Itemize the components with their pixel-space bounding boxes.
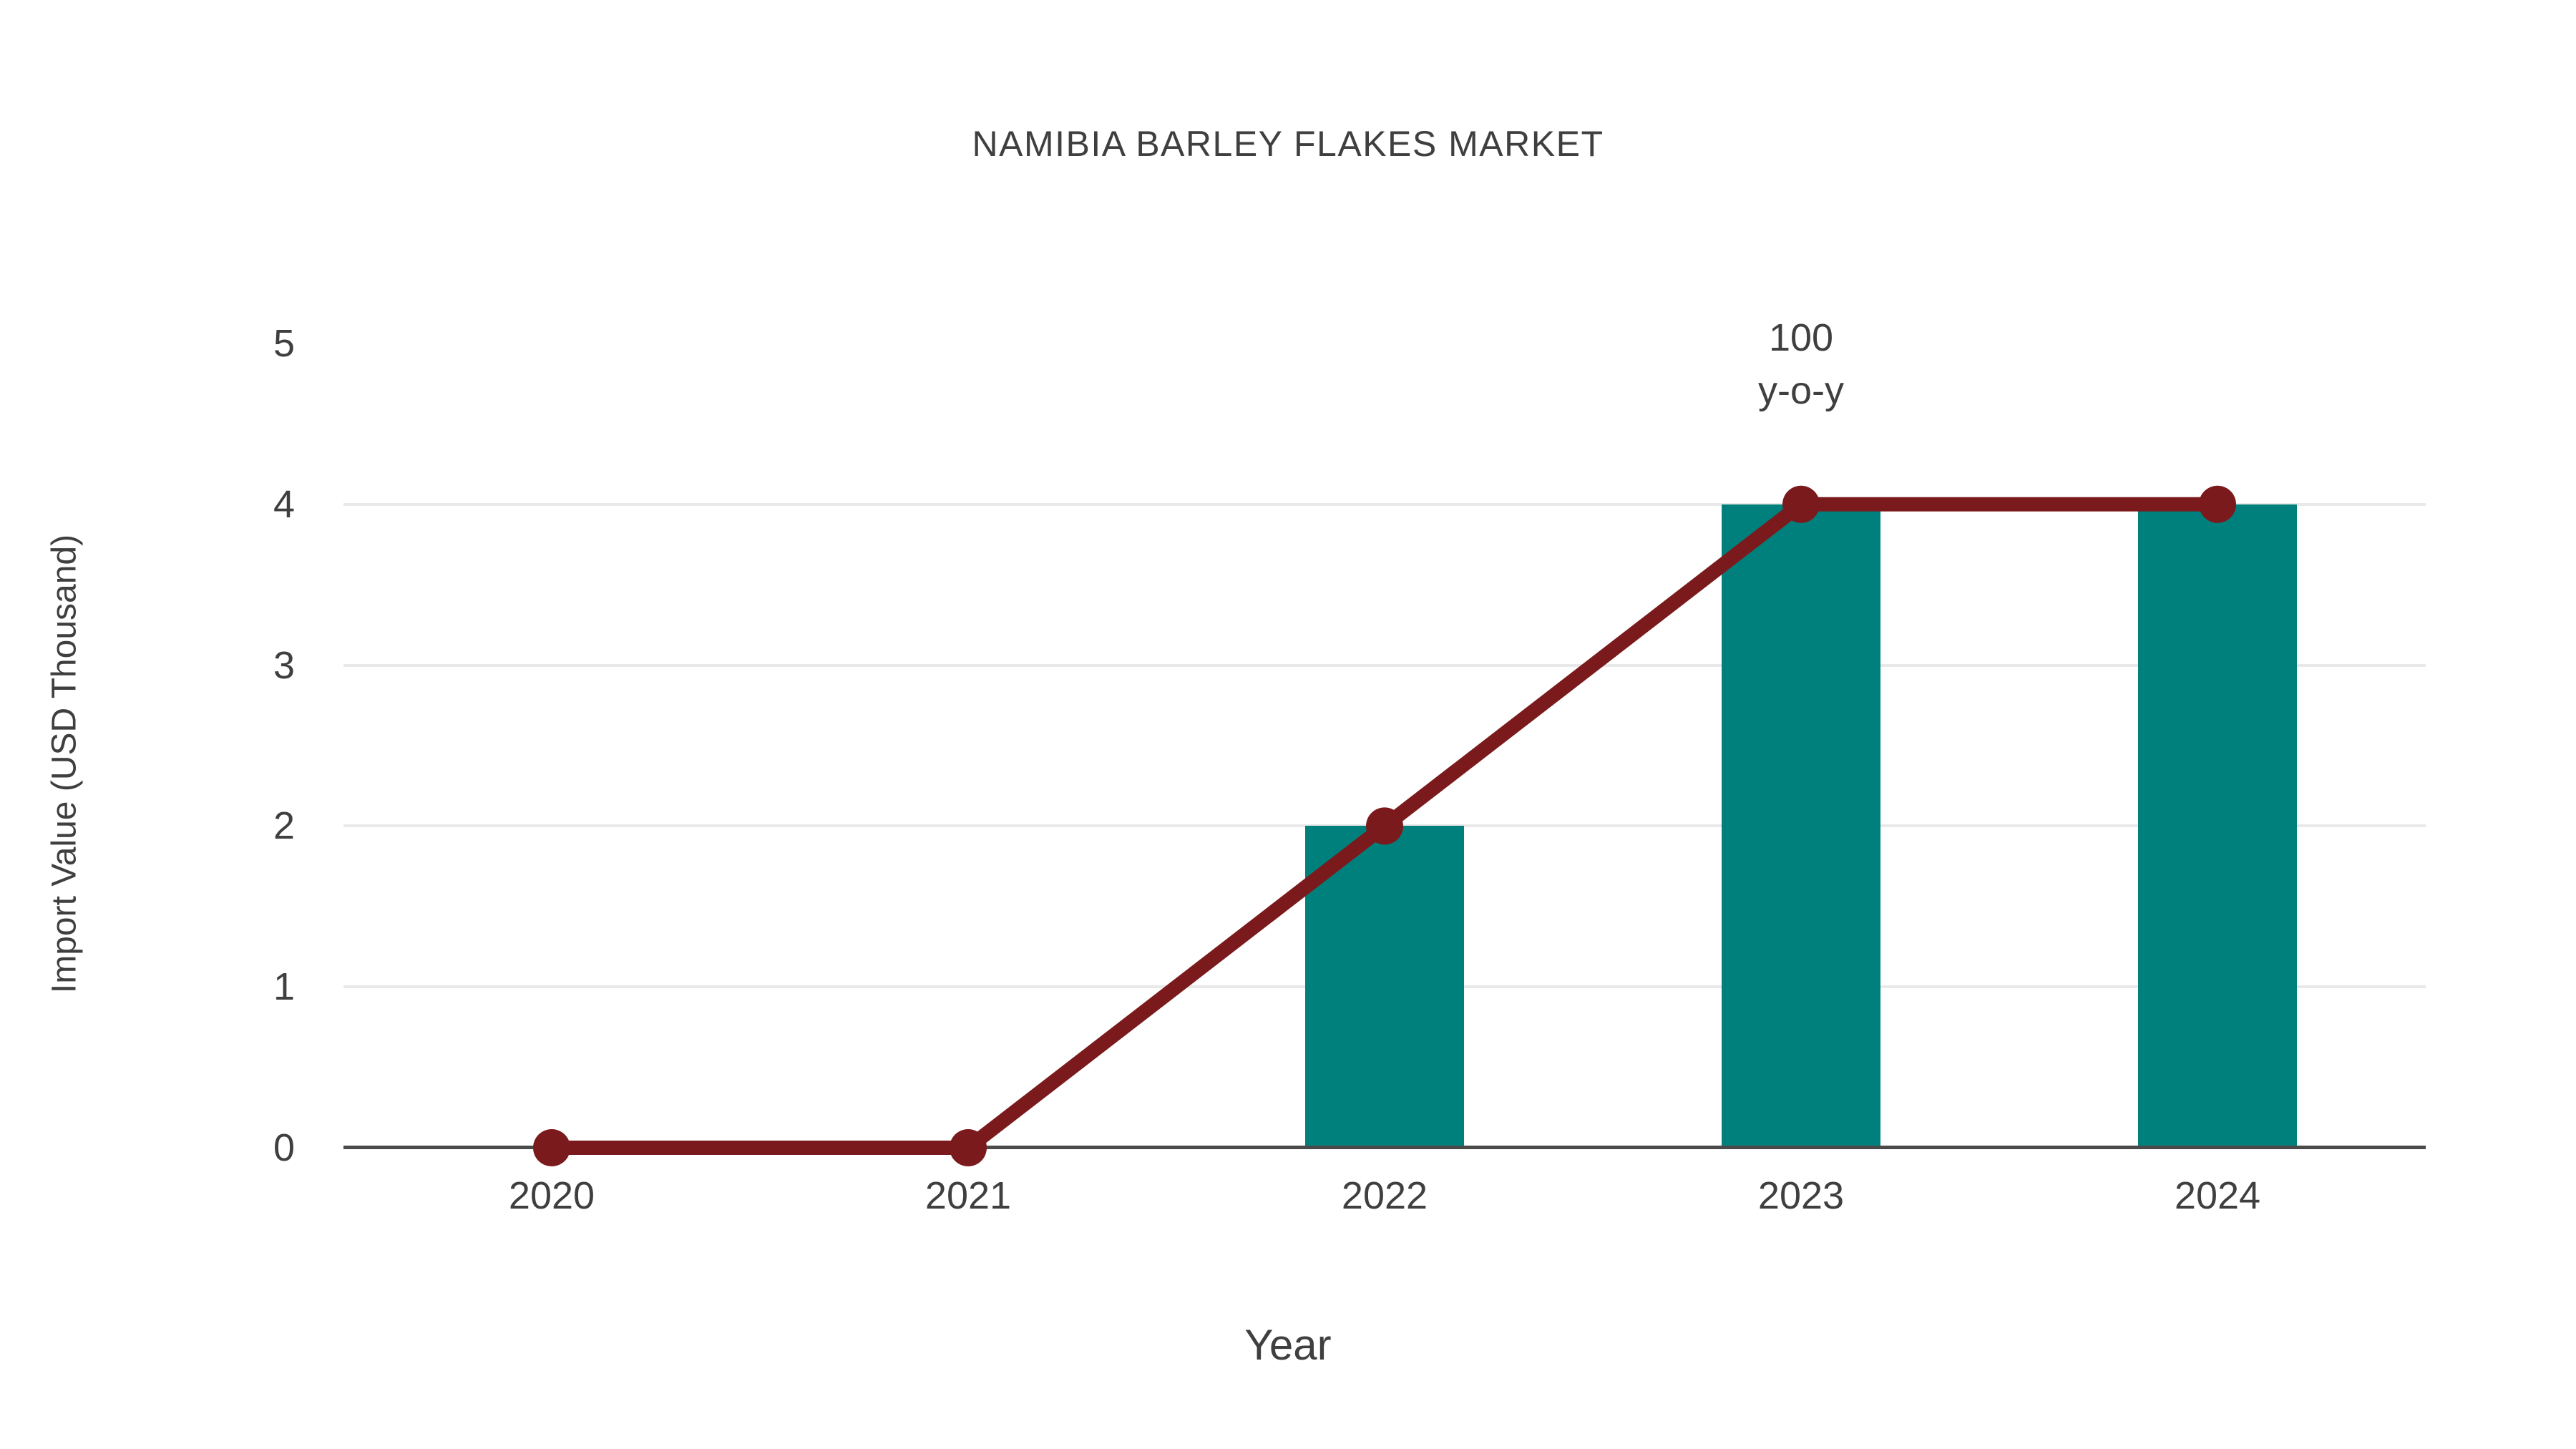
gridline <box>343 664 2426 667</box>
x-tick-2024: 2024 <box>2110 1174 2325 1218</box>
x-tick-2022: 2022 <box>1277 1174 1492 1218</box>
chart-figure: NAMIBIA BARLEY FLAKES MARKET 012345 2020… <box>0 0 2576 1449</box>
growth-annotation: 100y-o-y <box>1615 318 1987 410</box>
y-axis-title: Import Value (USD Thousand) <box>45 156 84 1372</box>
x-tick-2023: 2023 <box>1694 1174 1908 1218</box>
bar-2024[interactable] <box>2138 504 2297 1148</box>
x-tick-2020: 2020 <box>444 1174 659 1218</box>
bar-2023[interactable] <box>1722 504 1880 1148</box>
plot-area <box>343 343 2426 1148</box>
x-axis-title: Year <box>0 1320 2576 1370</box>
bar-2022[interactable] <box>1305 826 1464 1148</box>
x-tick-2021: 2021 <box>861 1174 1075 1218</box>
annotation-unit: y-o-y <box>1615 371 1987 410</box>
chart-title: NAMIBIA BARLEY FLAKES MARKET <box>0 123 2576 165</box>
x-axis-line <box>343 1146 2426 1149</box>
gridline <box>343 503 2426 506</box>
annotation-value: 100 <box>1769 316 1833 359</box>
